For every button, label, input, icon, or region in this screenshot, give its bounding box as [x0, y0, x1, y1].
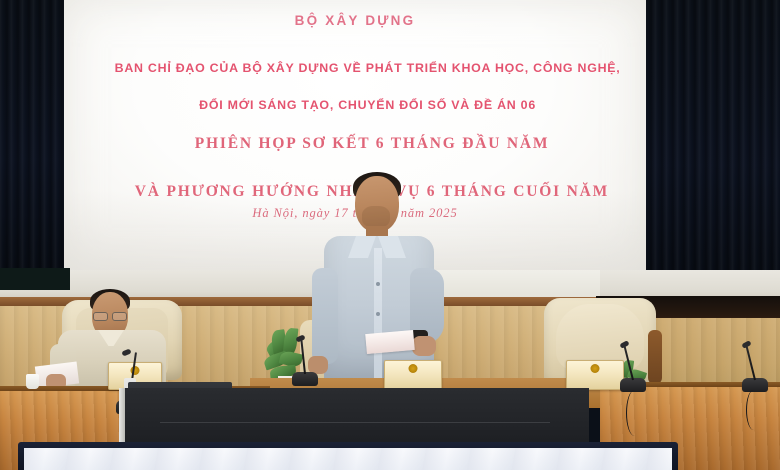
speaker-hand [412, 336, 436, 356]
shirt-placket [374, 248, 382, 388]
chair-armrest [648, 330, 662, 384]
conference-photo: BỘ XÂY DỰNG BAN CHỈ ĐẠO CỦA BỘ XÂY DỰNG … [0, 0, 780, 470]
monitor-seam-line [160, 422, 550, 423]
slide-session-line-1: PHIÊN HỌP SƠ KẾT 6 THÁNG ĐẦU NĂM [195, 135, 550, 152]
shirt-button [376, 282, 380, 286]
microphone-cable [626, 390, 643, 436]
national-emblem-icon [409, 364, 418, 373]
stage-curtain-left [0, 0, 66, 290]
projection-screen: BỘ XÂY DỰNG BAN CHỈ ĐẠO CỦA BỘ XÂY DỰNG … [64, 0, 646, 272]
microphone-base [292, 372, 318, 386]
wall-dark-corner [0, 268, 70, 290]
stage-curtain-right [644, 0, 780, 300]
document-paper [365, 330, 415, 354]
national-emblem-icon [591, 364, 600, 373]
foreground-display-panel [24, 448, 672, 470]
eyeglasses-icon [93, 312, 127, 319]
nameplate-center [384, 360, 442, 390]
slide-organization-title: BỘ XÂY DỰNG [64, 12, 646, 30]
speaker-arm-left [312, 268, 338, 364]
speaker-face [362, 206, 390, 228]
drinking-cup [26, 374, 39, 389]
microphone-cable [746, 390, 761, 430]
slide-committee-line-1: BAN CHỈ ĐẠO CỦA BỘ XÂY DỰNG VỀ PHÁT TRIỂ… [115, 61, 621, 75]
shirt-button [376, 312, 380, 316]
nameplate-right [566, 360, 624, 390]
